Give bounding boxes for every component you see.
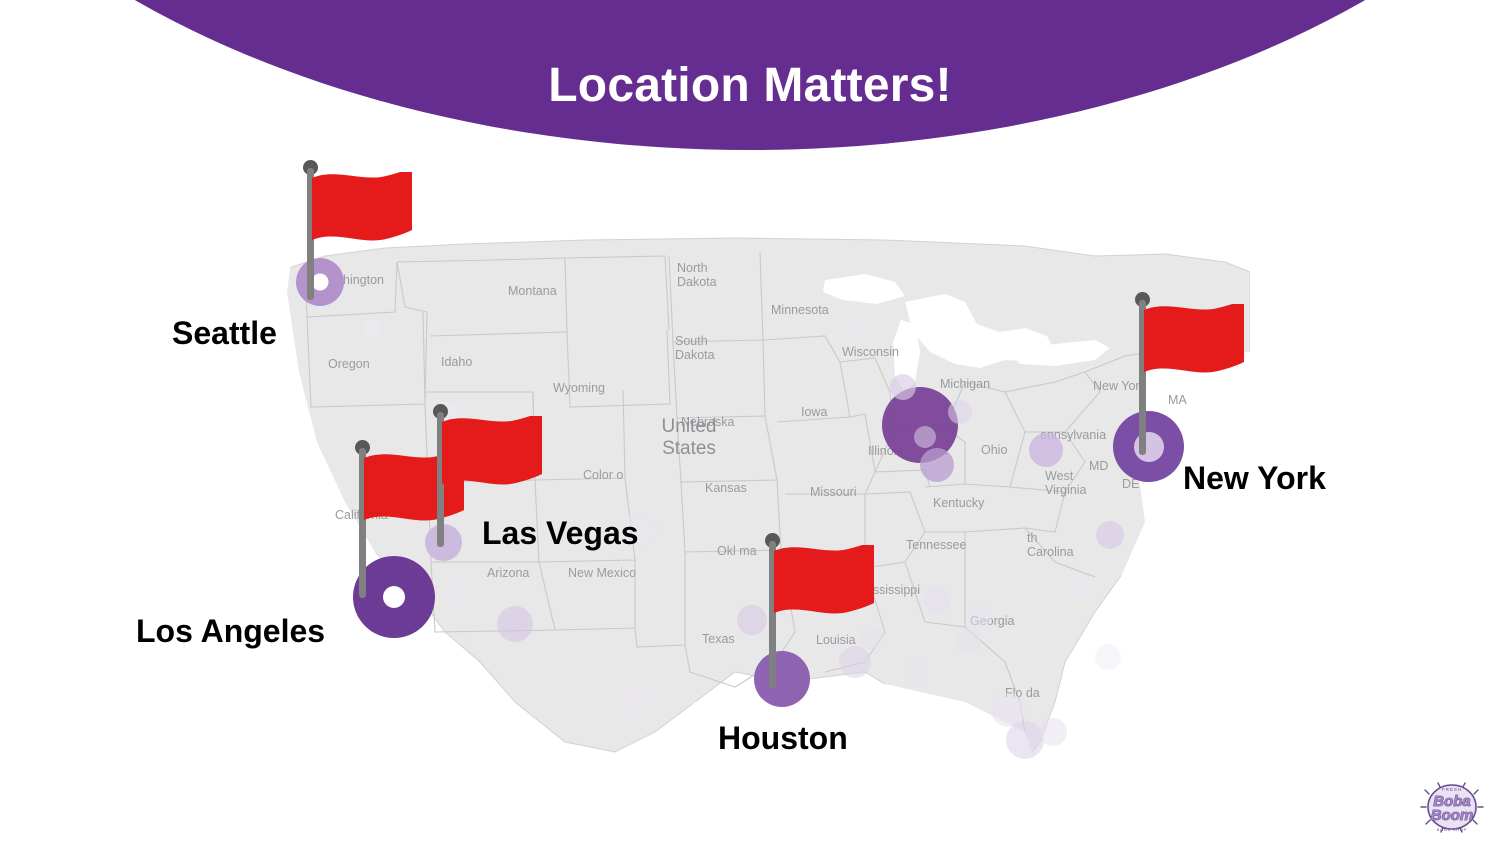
- flag-pin-houston[interactable]: [769, 533, 879, 701]
- page-title: Location Matters!: [0, 58, 1500, 113]
- logo-line2: Boom: [1431, 807, 1474, 824]
- city-label-las-vegas: Las Vegas: [482, 515, 639, 552]
- state-label-wyoming: Wyoming: [553, 381, 605, 395]
- state-label-ohio: Ohio: [981, 443, 1007, 457]
- newmexico-dot: [839, 321, 863, 345]
- state-label-montana: Montana: [508, 284, 557, 298]
- state-label-tennessee: Tennessee: [906, 538, 967, 552]
- state-label-oregon: Oregon: [328, 357, 370, 371]
- logo-top-arc: FRESH: [1442, 787, 1462, 792]
- state-label-md: MD: [1089, 459, 1108, 473]
- state-label-minnesota: Minnesota: [771, 303, 829, 317]
- flag-cloth-icon: [442, 416, 544, 503]
- florida-s-dot: [1006, 721, 1044, 759]
- state-label-idaho: Idaho: [441, 355, 472, 369]
- state-label-kansas: Kansas: [705, 481, 747, 495]
- gulfcoast-dot: [904, 661, 926, 683]
- carolina-dot: [1096, 521, 1124, 549]
- city-label-new-york: New York: [1183, 460, 1326, 497]
- state-label-wisconsin: Wisconsin: [842, 345, 899, 359]
- state-label-missouri: Missouri: [810, 485, 857, 499]
- florida-b-dot: [1039, 718, 1067, 746]
- washington-b-dot: [363, 319, 381, 337]
- alabama-dot: [955, 628, 981, 654]
- city-label-los-angeles: Los Angeles: [136, 613, 325, 650]
- boba-boom-logo: Boba Boom FRESH BOBA SHOP: [1416, 776, 1488, 838]
- atlantic-dot: [1095, 644, 1121, 670]
- pennsylvania-dot: [1029, 433, 1063, 467]
- state-label-kentucky: Kentucky: [933, 496, 985, 510]
- ohio-dot: [948, 400, 972, 424]
- state-label-new-mexico: New Mexico: [568, 566, 636, 580]
- state-label-texas: Texas: [702, 632, 735, 646]
- logo-bottom-arc: BOBA SHOP: [1437, 827, 1468, 832]
- city-label-seattle: Seattle: [172, 315, 277, 352]
- city-label-houston: Houston: [718, 720, 848, 757]
- flag-pin-seattle[interactable]: [307, 160, 417, 312]
- state-label-iowa: Iowa: [801, 405, 827, 419]
- michigan-dot: [890, 374, 916, 400]
- state-label-arizona: Arizona: [487, 566, 529, 580]
- arizona-dot: [497, 606, 533, 642]
- mexico-dot: [620, 687, 650, 717]
- state-label-colorado: Color o: [583, 468, 623, 482]
- flag-cloth-icon: [312, 172, 414, 259]
- oklahoma-dot: [968, 605, 992, 629]
- indiana-dot: [920, 448, 954, 482]
- state-label-michigan: Michigan: [940, 377, 990, 391]
- georgia-coast-dot: [1069, 576, 1091, 598]
- texas-e-dot: [737, 605, 767, 635]
- ohio-b-dot: [914, 426, 936, 448]
- flag-cloth-icon: [774, 545, 876, 632]
- flag-pin-new-york[interactable]: [1139, 292, 1249, 467]
- texas-n-dot: [923, 586, 951, 614]
- flag-cloth-icon: [1144, 304, 1246, 391]
- country-label-line1: United: [662, 416, 717, 437]
- country-label-line2: States: [662, 438, 716, 459]
- slide-canvas: Location Matters!: [0, 0, 1500, 844]
- state-label-oklahoma: Okl ma: [717, 544, 757, 558]
